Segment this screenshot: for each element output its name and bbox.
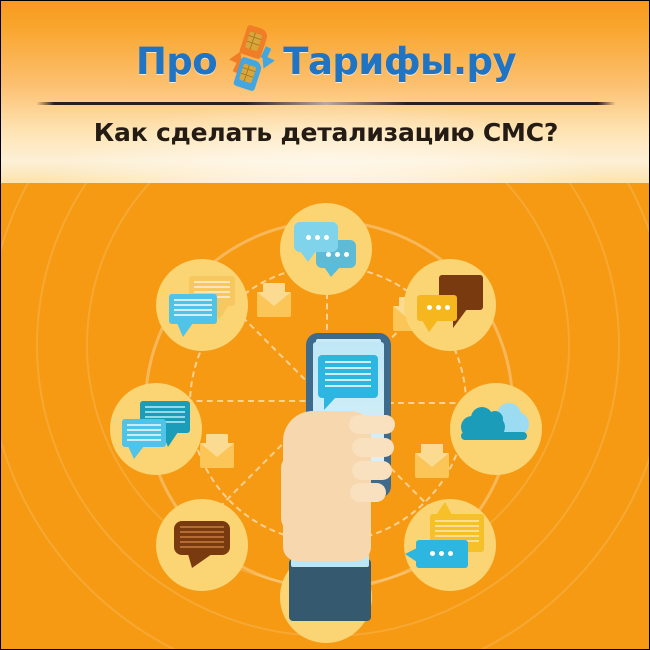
dot bbox=[344, 252, 349, 257]
screen-message-bubble-icon bbox=[318, 355, 378, 398]
sleeve bbox=[289, 559, 371, 621]
hand-finger bbox=[352, 461, 392, 480]
hand-finger bbox=[352, 438, 394, 457]
chat-bubble-yellow-icon bbox=[417, 295, 457, 321]
screen-message-bubble-tail bbox=[324, 397, 336, 410]
badge-chat-bubble-brown[interactable] bbox=[156, 499, 248, 591]
envelope-icon bbox=[200, 443, 234, 468]
dot bbox=[324, 235, 329, 240]
badge-cloud-sync[interactable] bbox=[450, 383, 542, 475]
chat-bubble-front-icon bbox=[294, 222, 338, 252]
dot bbox=[427, 305, 432, 310]
badge-chat-bubbles-dots[interactable] bbox=[280, 203, 372, 295]
header-divider bbox=[37, 102, 615, 105]
dot bbox=[335, 252, 340, 257]
dot bbox=[448, 551, 453, 556]
chat-bubble-lightblue-icon bbox=[122, 419, 166, 447]
logo-text-tarify: Тарифы.ру bbox=[283, 43, 516, 80]
page-title: Как сделать детализацию СМС? bbox=[1, 118, 650, 147]
page-header: Про Тарифы.ру Как сделать детализацию СМ… bbox=[1, 1, 650, 183]
hand-finger bbox=[350, 483, 386, 502]
hand-thumb bbox=[281, 453, 311, 533]
infographic-page: Про Тарифы.ру Как сделать детализацию СМ… bbox=[0, 0, 650, 650]
dot bbox=[439, 551, 444, 556]
badge-chat-bubbles-yellow-blue-outline[interactable] bbox=[156, 259, 248, 351]
site-logo[interactable]: Про Тарифы.ру bbox=[1, 25, 650, 97]
sim-chip bbox=[239, 63, 257, 83]
envelope-flap bbox=[200, 443, 234, 457]
sim-chip bbox=[245, 31, 263, 51]
dot bbox=[436, 305, 441, 310]
dot bbox=[306, 235, 311, 240]
badge-chat-bubbles-teal[interactable] bbox=[110, 383, 202, 475]
envelope-icon bbox=[257, 292, 291, 317]
chat-bubble-blue-icon bbox=[169, 294, 217, 324]
dot bbox=[445, 305, 450, 310]
envelope-flap bbox=[415, 453, 449, 467]
chat-bubble-brown-lines-icon bbox=[174, 521, 230, 555]
logo-text-pro: Про bbox=[136, 43, 217, 80]
hand-finger bbox=[349, 415, 395, 434]
chat-bubble-blue-dots-icon bbox=[416, 540, 468, 568]
hand-holding-smartphone[interactable] bbox=[253, 333, 403, 650]
logo-sim-icons bbox=[219, 25, 281, 97]
dot bbox=[315, 235, 320, 240]
badge-chat-bubbles-brown-yellow[interactable] bbox=[404, 259, 496, 351]
envelope-flap bbox=[257, 292, 291, 306]
badge-chat-bubbles-yellow-blue[interactable] bbox=[404, 499, 496, 591]
illustration-stage bbox=[1, 183, 650, 650]
envelope-icon bbox=[415, 453, 449, 478]
dot bbox=[430, 551, 435, 556]
dot bbox=[326, 252, 331, 257]
